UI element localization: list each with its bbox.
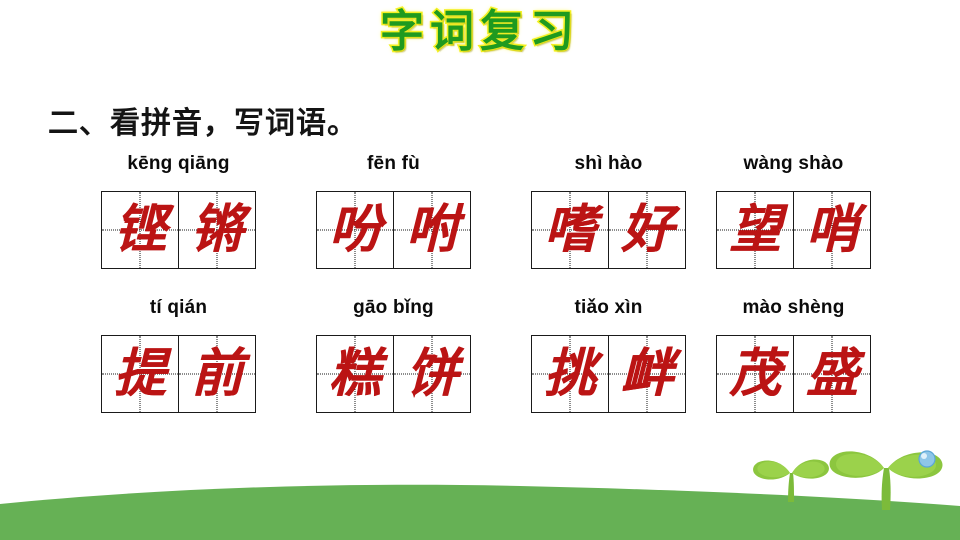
pinyin-label: tí qián: [101, 296, 256, 322]
answer-character: 吩: [317, 192, 393, 268]
answer-character: 前: [179, 336, 255, 412]
tianzige-cell[interactable]: 铿: [101, 191, 179, 269]
character-grid: 茂盛: [716, 335, 871, 413]
character-grid: 望哨: [716, 191, 871, 269]
pinyin-label: gāo bǐng: [316, 296, 471, 322]
word-group: fēn fù吩咐: [316, 152, 471, 269]
character-grid: 糕饼: [316, 335, 471, 413]
tianzige-cell[interactable]: 哨: [793, 191, 871, 269]
page-title: 字词复习: [380, 8, 580, 56]
tianzige-cell[interactable]: 茂: [716, 335, 794, 413]
tianzige-cell[interactable]: 锵: [178, 191, 256, 269]
tianzige-cell[interactable]: 饼: [393, 335, 471, 413]
exercise-row: kēng qiāng铿锵fēn fù吩咐shì hào嗜好wàng shào望哨: [0, 152, 960, 277]
pinyin-label: fēn fù: [316, 152, 471, 178]
word-group: wàng shào望哨: [716, 152, 871, 269]
slide-canvas: 字词复习 二、看拼音，写词语。 kēng qiāng铿锵fēn fù吩咐shì …: [0, 0, 960, 540]
answer-character: 咐: [394, 192, 470, 268]
pinyin-label: shì hào: [531, 152, 686, 178]
tianzige-cell[interactable]: 挑: [531, 335, 609, 413]
answer-character: 糕: [317, 336, 393, 412]
answer-character: 铿: [102, 192, 178, 268]
pinyin-label: mào shèng: [716, 296, 871, 322]
tianzige-cell[interactable]: 前: [178, 335, 256, 413]
answer-character: 好: [609, 192, 685, 268]
character-grid: 挑衅: [531, 335, 686, 413]
answer-character: 衅: [609, 336, 685, 412]
character-grid: 提前: [101, 335, 256, 413]
word-group: gāo bǐng糕饼: [316, 296, 471, 413]
sprout-decoration: [745, 440, 960, 510]
tianzige-cell[interactable]: 盛: [793, 335, 871, 413]
exercise-row: tí qián提前gāo bǐng糕饼tiǎo xìn挑衅mào shèng茂盛: [0, 296, 960, 421]
character-grid: 嗜好: [531, 191, 686, 269]
tianzige-cell[interactable]: 糕: [316, 335, 394, 413]
sprout-icon: [830, 451, 943, 510]
sprout-icon: [753, 460, 829, 503]
section-heading: 二、看拼音，写词语。: [48, 98, 358, 142]
answer-character: 盛: [794, 336, 870, 412]
tianzige-cell[interactable]: 提: [101, 335, 179, 413]
answer-character: 嗜: [532, 192, 608, 268]
answer-character: 望: [717, 192, 793, 268]
word-group: shì hào嗜好: [531, 152, 686, 269]
tianzige-cell[interactable]: 好: [608, 191, 686, 269]
tianzige-cell[interactable]: 衅: [608, 335, 686, 413]
tianzige-cell[interactable]: 吩: [316, 191, 394, 269]
grass-hill: [0, 460, 960, 540]
tianzige-cell[interactable]: 望: [716, 191, 794, 269]
title-area: 字词复习: [0, 8, 960, 56]
pinyin-label: wàng shào: [716, 152, 871, 178]
tianzige-cell[interactable]: 嗜: [531, 191, 609, 269]
word-group: tiǎo xìn挑衅: [531, 296, 686, 413]
answer-character: 哨: [794, 192, 870, 268]
character-grid: 铿锵: [101, 191, 256, 269]
dewdrop-icon: [919, 451, 935, 467]
pinyin-label: tiǎo xìn: [531, 296, 686, 322]
answer-character: 锵: [179, 192, 255, 268]
answer-character: 提: [102, 336, 178, 412]
tianzige-cell[interactable]: 咐: [393, 191, 471, 269]
word-group: kēng qiāng铿锵: [101, 152, 256, 269]
word-group: mào shèng茂盛: [716, 296, 871, 413]
answer-character: 茂: [717, 336, 793, 412]
answer-character: 挑: [532, 336, 608, 412]
pinyin-label: kēng qiāng: [101, 152, 256, 178]
character-grid: 吩咐: [316, 191, 471, 269]
word-group: tí qián提前: [101, 296, 256, 413]
answer-character: 饼: [394, 336, 470, 412]
